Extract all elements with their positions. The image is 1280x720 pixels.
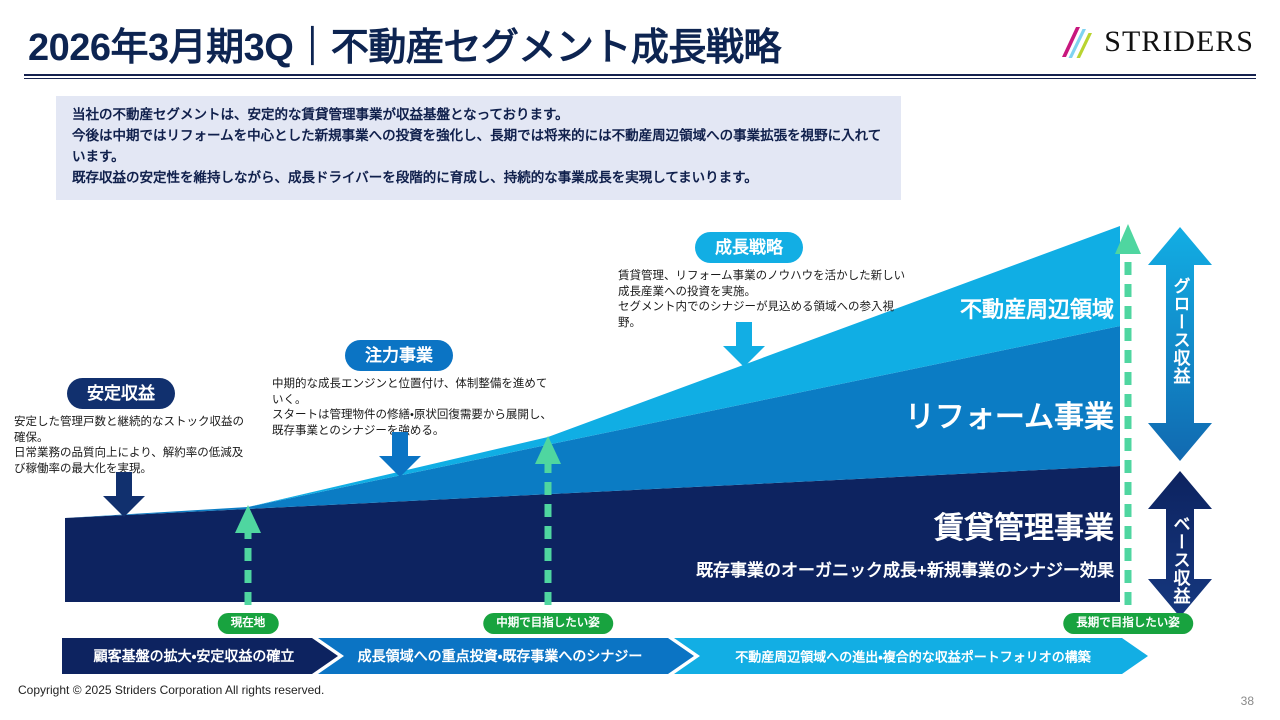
callout-stable-revenue: 安定収益 安定した管理戸数と継続的なストック収益の確保。 日常業務の品質向上によ… xyxy=(14,378,254,477)
callout-focus-badge: 注力事業 xyxy=(345,340,453,371)
summary-box: 当社の不動産セグメントは、安定的な賃貸管理事業が収益基盤となっております。 今後… xyxy=(56,96,901,200)
area-label-organic-synergy: 既存事業のオーガニック成長+新規事業のシナジー効果 xyxy=(696,556,1114,581)
roadmap-chevron-1-label: 顧客基盤の拡大・安定収益の確立 xyxy=(94,646,295,666)
copyright-notice: Copyright © 2025 Striders Corporation Al… xyxy=(18,683,324,697)
callout-focus-business: 注力事業 中期的な成長エンジンと位置付け、体制整備を進めていく。 スタートは管理… xyxy=(272,340,552,439)
callout-growth-badge: 成長戦略 xyxy=(695,232,803,263)
summary-line-1: 当社の不動産セグメントは、安定的な賃貸管理事業が収益基盤となっております。 xyxy=(72,105,887,126)
page-number: 38 xyxy=(1241,694,1254,708)
callout-stable-body: 安定した管理戸数と継続的なストック収益の確保。 日常業務の品質向上により、解約率… xyxy=(14,415,254,477)
striders-stripes-logo-icon xyxy=(1050,25,1096,59)
callout-stable-badge-wrap: 安定収益 xyxy=(14,378,228,409)
callout-focus-body: 中期的な成長エンジンと位置付け、体制整備を進めていく。 スタートは管理物件の修繕… xyxy=(272,377,552,439)
callout-stable-badge: 安定収益 xyxy=(67,378,175,409)
area-label-surrounding-domains: 不動産周辺領域 xyxy=(960,292,1114,324)
callout-stable-body-line-1: 安定した管理戸数と継続的なストック収益の確保。 xyxy=(14,415,254,446)
company-logo: STRIDERS xyxy=(1050,24,1254,60)
revenue-arrows-svg xyxy=(1146,225,1214,620)
callout-growth-down-arrow-icon xyxy=(720,322,768,368)
callout-focus-badge-wrap: 注力事業 xyxy=(272,340,526,371)
roadmap-chevron-3-label: 不動産周辺領域への進出・複合的な収益ポートフォリオの構築 xyxy=(735,647,1090,666)
callout-growth-body-line-1: 賃貸管理、リフォーム事業のノウハウを活かした新しい成長産業への投資を実施。 xyxy=(618,269,908,300)
milestone-pill-longterm: 長期で目指したい姿 xyxy=(1063,613,1193,634)
page-title: 2026年3月期3Q｜不動産セグメント成長戦略 xyxy=(28,16,781,71)
logo-wordmark: STRIDERS xyxy=(1104,25,1254,59)
roadmap-chevron-bar: 顧客基盤の拡大・安定収益の確立 成長領域への重点投資・既存事業へのシナジー 不動… xyxy=(0,636,1280,676)
callout-growth-strategy: 成長戦略 賃貸管理、リフォーム事業のノウハウを活かした新しい成長産業への投資を実… xyxy=(618,232,908,331)
revenue-scale-arrows: グロース収益 ベース収益 xyxy=(1146,225,1214,620)
slide-root: 2026年3月期3Q｜不動産セグメント成長戦略 STRIDERS 当社の不動産セ… xyxy=(0,0,1280,720)
base-revenue-arrow-shape xyxy=(1148,471,1212,617)
area-label-reform-business: リフォーム事業 xyxy=(905,392,1114,436)
milestone-pill-current: 現在地 xyxy=(218,613,279,634)
callout-focus-down-arrow-icon xyxy=(376,432,424,478)
callout-stable-down-arrow-icon xyxy=(100,472,148,518)
milestone-pill-midterm: 中期で目指したい姿 xyxy=(483,613,613,634)
callout-growth-badge-wrap: 成長戦略 xyxy=(618,232,880,263)
header-divider xyxy=(24,74,1256,76)
area-label-rental-management: 賃貸管理事業 xyxy=(934,503,1114,547)
callout-focus-body-line-1: 中期的な成長エンジンと位置付け、体制整備を進めていく。 xyxy=(272,377,552,408)
slide-header: 2026年3月期3Q｜不動産セグメント成長戦略 STRIDERS xyxy=(0,0,1280,80)
gross-revenue-arrow-shape xyxy=(1148,227,1212,461)
roadmap-chevron-2-label: 成長領域への重点投資・既存事業へのシナジー xyxy=(358,646,643,666)
summary-line-2: 今後は中期ではリフォームを中心とした新規事業への投資を強化し、長期では将来的には… xyxy=(72,126,887,168)
summary-line-3: 既存収益の安定性を維持しながら、成長ドライバーを段階的に育成し、持続的な事業成長… xyxy=(72,168,887,189)
